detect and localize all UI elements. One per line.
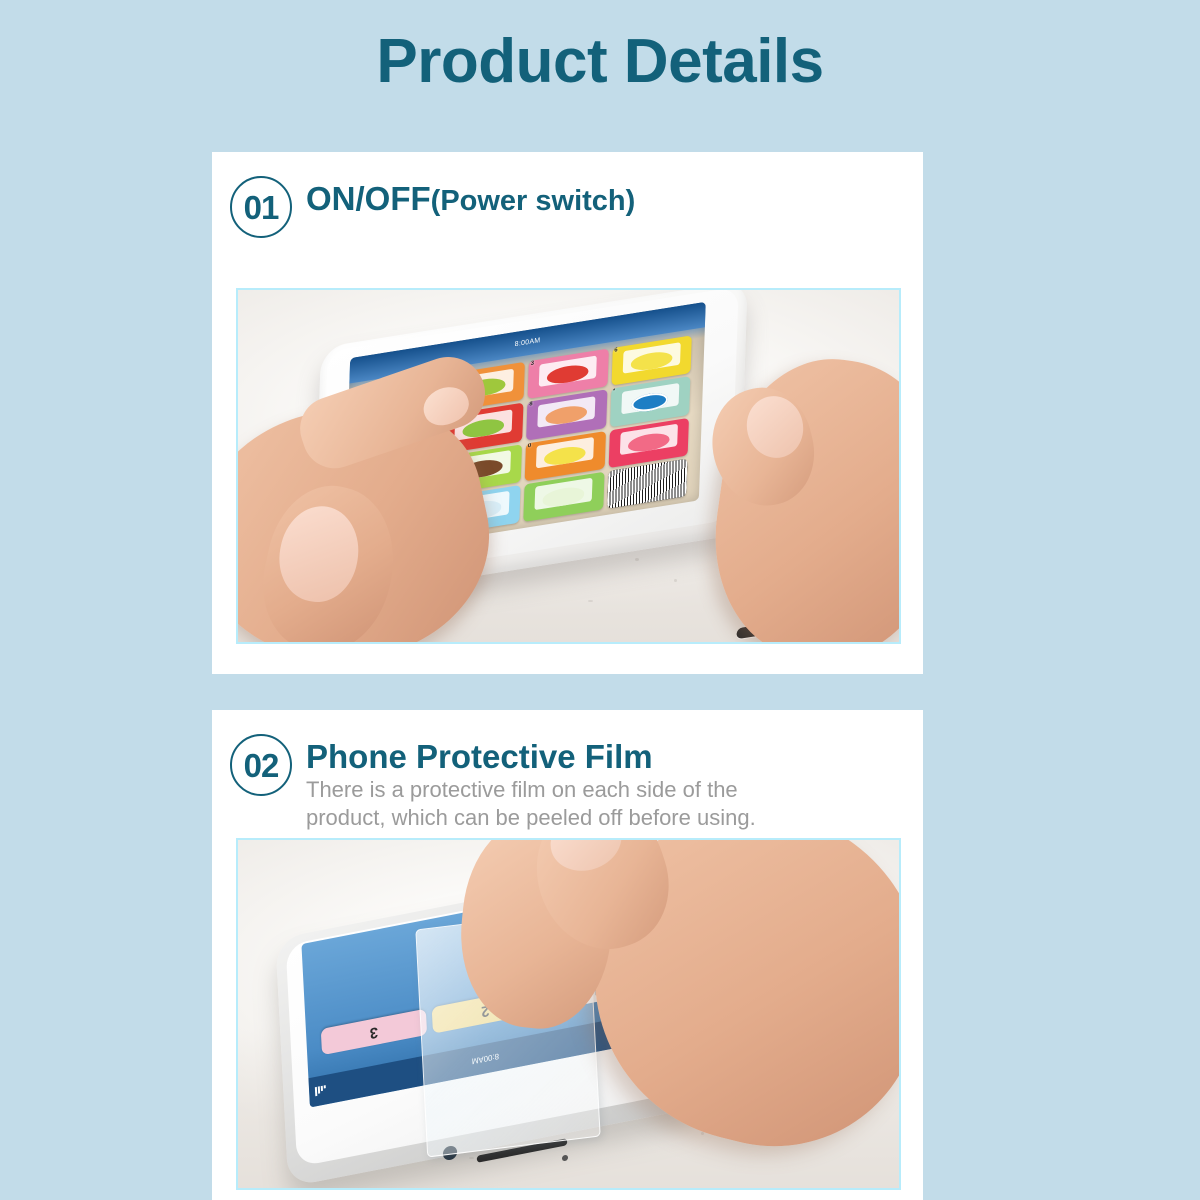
page-title: Product Details (0, 0, 1200, 97)
photo-scene-02: 8:00AM 123 (238, 840, 899, 1188)
section-title-main-01: ON/OFF (306, 180, 431, 217)
app-key-label: * (613, 388, 616, 394)
app-key-label: 3 (531, 361, 535, 368)
signal-bars-icon (315, 1085, 326, 1096)
section-header-01: 01 ON/OFF(Power switch) (212, 152, 923, 238)
gear-icon (631, 390, 668, 413)
section-title-sub-01: (Power switch) (431, 185, 636, 217)
section-heading-block-01: ON/OFF(Power switch) (292, 176, 635, 217)
section-title-02: Phone Protective Film (306, 740, 756, 775)
section-number-badge-02: 02 (230, 734, 292, 796)
fruit-glyph (547, 362, 589, 385)
app-key-label: 8 (529, 402, 533, 409)
fruit-glyph (543, 485, 585, 508)
section-heading-block-02: Phone Protective Film There is a protect… (292, 734, 756, 831)
app-key-label: 6 (614, 347, 618, 354)
fruit-glyph (546, 403, 588, 426)
app-key-label: 0 (528, 442, 532, 449)
fruit-glyph (628, 431, 670, 454)
product-photo-power-switch: 8:00AM 1236458*790# (236, 288, 901, 644)
fruit-glyph (544, 444, 586, 467)
key-tile[interactable]: 3 (320, 1009, 427, 1056)
photo-scene-01: 8:00AM 1236458*790# (238, 290, 899, 642)
section-title-main-02: Phone Protective Film (306, 738, 653, 775)
section-card-01: 01 ON/OFF(Power switch) 8:00AM 1236458* (212, 152, 923, 674)
section-description-line2: product, which can be peeled off before … (306, 805, 756, 831)
product-photo-protective-film: 8:00AM 123 (236, 838, 901, 1190)
section-number-badge-01: 01 (230, 176, 292, 238)
section-header-02: 02 Phone Protective Film There is a prot… (212, 710, 923, 831)
section-description-line1: There is a protective film on each side … (306, 777, 756, 803)
section-card-02: 02 Phone Protective Film There is a prot… (212, 710, 923, 1200)
fruit-glyph (631, 349, 673, 372)
section-title-01: ON/OFF(Power switch) (306, 182, 635, 217)
